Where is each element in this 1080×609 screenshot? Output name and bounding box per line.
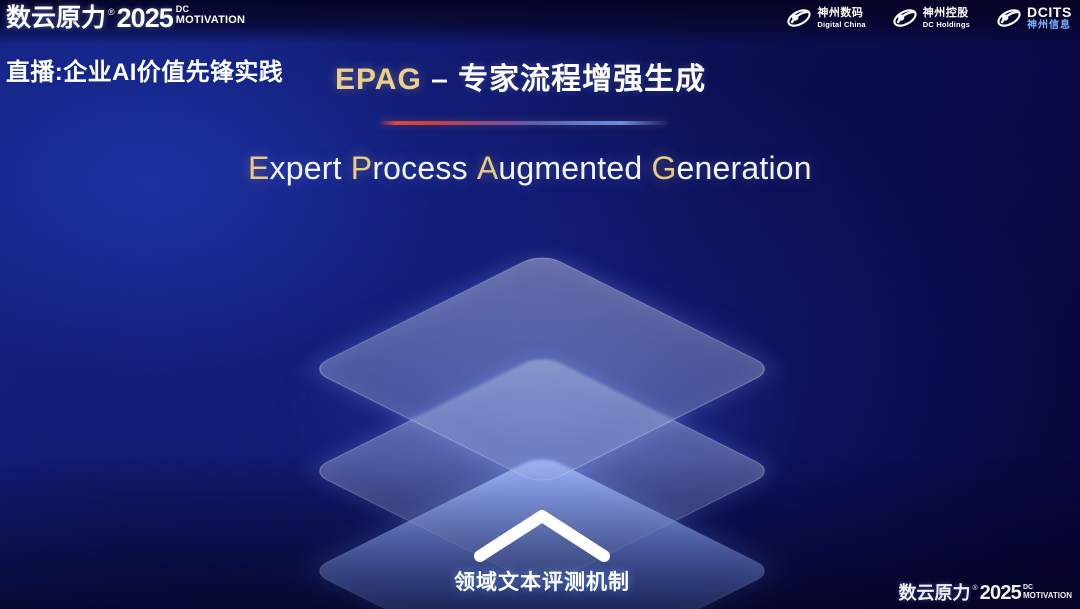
diagram-layer-top[interactable]: [377, 204, 707, 534]
watermark-dc-line1: DC: [1023, 584, 1072, 591]
page-title: EPAG – 专家流程增强生成: [335, 54, 706, 98]
brand-dc-motivation: DC MOTIVATION: [176, 1, 245, 26]
layer-plate-top: [309, 252, 776, 485]
partner-name-cn: 神州数码: [817, 8, 865, 19]
partner-logo-group: 神州数码 Digital China 神州控股 DC Holdings: [786, 5, 1072, 31]
subtitle-rest-augmented: ugmented: [498, 150, 642, 186]
livestream-session-title: 直播:企业AI价值先锋实践: [6, 52, 283, 87]
page-subtitle: Expert Process Augmented Generation: [248, 150, 812, 187]
brand-dc-line2: MOTIVATION: [176, 15, 245, 26]
subtitle-cap-g: G: [651, 150, 676, 186]
partner-logo-digital-china: 神州数码 Digital China: [786, 6, 865, 30]
watermark-registered-mark: ®: [973, 581, 978, 595]
title-divider: [378, 121, 668, 125]
subtitle-cap-a: A: [477, 150, 499, 186]
subtitle-rest-generation: eneration: [677, 150, 812, 186]
slide-canvas: 数云原力 ® 2025 DC MOTIVATION 直播:企业AI价值先锋实践 …: [0, 0, 1080, 609]
watermark-name-cn: 数云原力: [899, 581, 971, 605]
watermark-year: 2025: [980, 581, 1021, 605]
subtitle-cap-e: E: [248, 150, 270, 186]
partner-logo-dcits: DCITS 神州信息: [996, 5, 1072, 31]
page-title-chinese: 专家流程增强生成: [458, 63, 706, 96]
brand-registered-mark: ®: [108, 1, 115, 20]
partner-name-cn: DCITS: [1027, 5, 1072, 19]
subtitle-rest-expert: xpert: [270, 150, 342, 186]
swirl-logo-icon: [996, 6, 1022, 30]
partner-name-en: 神州信息: [1027, 21, 1072, 31]
layer-label-top: 领域文本评测机制: [292, 566, 792, 596]
brand-logo: 数云原力 ® 2025 DC MOTIVATION: [6, 1, 245, 35]
partner-name-en: Digital China: [817, 21, 865, 29]
partner-logo-text: 神州数码 Digital China: [817, 8, 865, 29]
page-title-dash: –: [422, 63, 458, 96]
brand-watermark: 数云原力 ® 2025 DC MOTIVATION: [899, 581, 1073, 605]
subtitle-cap-p: P: [351, 150, 373, 186]
brand-year: 2025: [117, 1, 173, 35]
watermark-dc-line2: MOTIVATION: [1023, 592, 1072, 600]
partner-logo-text: 神州控股 DC Holdings: [923, 8, 970, 29]
layered-architecture-diagram: 领域文本评测机制 Dynamic MOE 长文本记忆 三类语义建模模块: [292, 228, 792, 578]
brand-name-cn: 数云原力: [6, 1, 106, 35]
subtitle-rest-process: rocess: [372, 150, 467, 186]
page-title-acronym: EPAG: [335, 63, 422, 96]
partner-name-cn: 神州控股: [923, 8, 970, 19]
partner-logo-dc-holdings: 神州控股 DC Holdings: [892, 6, 970, 30]
brand-dc-line1: DC: [176, 5, 245, 14]
watermark-dc-motivation: DC MOTIVATION: [1023, 581, 1072, 600]
swirl-logo-icon: [786, 6, 812, 30]
partner-logo-text: DCITS 神州信息: [1027, 5, 1072, 31]
partner-name-en: DC Holdings: [923, 21, 970, 29]
swirl-logo-icon: [892, 6, 918, 30]
